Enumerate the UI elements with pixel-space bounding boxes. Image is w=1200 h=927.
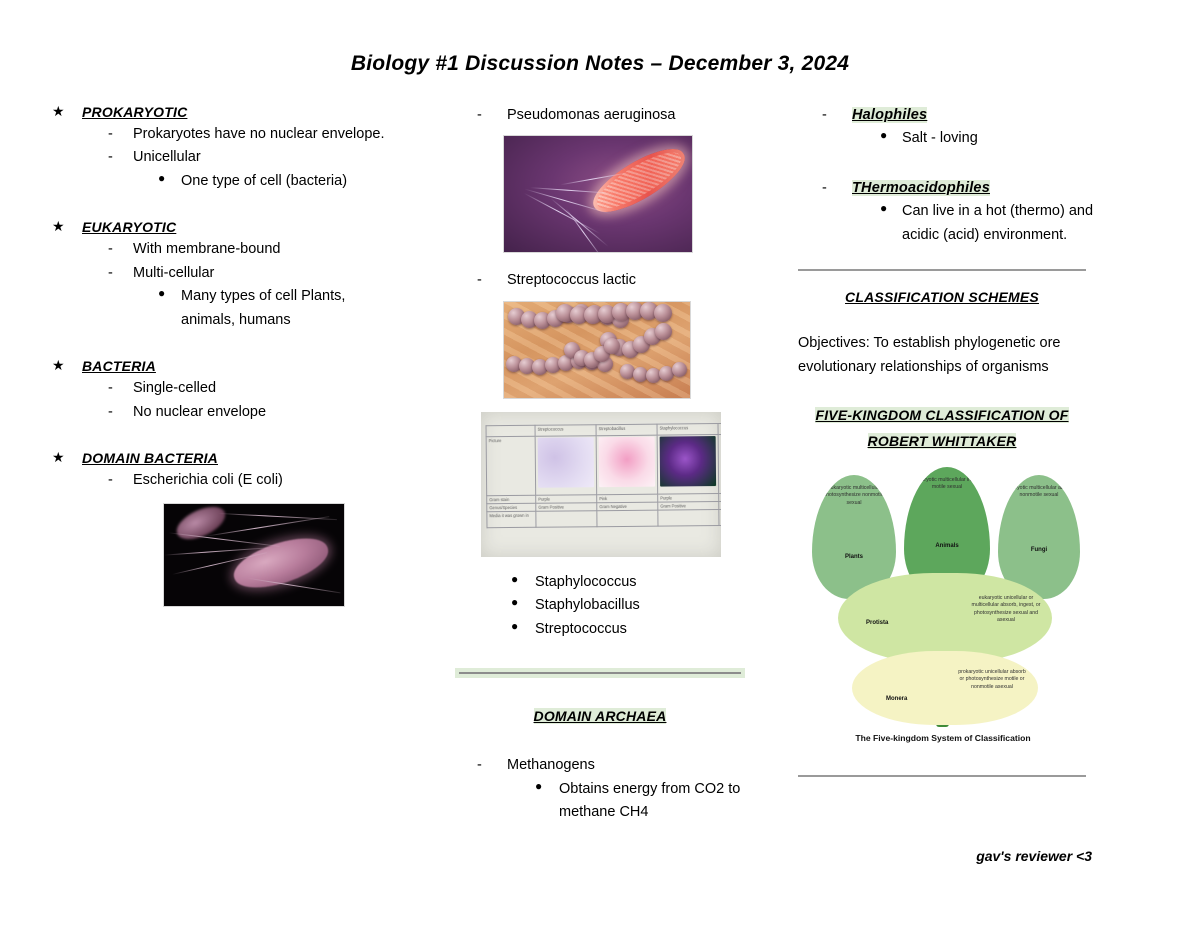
page-footer: gav's reviewer <3 (976, 848, 1092, 864)
section-divider-green (455, 668, 745, 678)
list-item: - Unicellular (48, 146, 388, 169)
five-kingdom-diagram: eukaryotic multicellular photosynthesize… (804, 461, 1098, 761)
section-eukaryotic: ★ EUKARYOTIC (48, 219, 388, 236)
dash-icon: - (822, 177, 827, 200)
list-item-label: Can live in a hot (thermo) and acidic (a… (902, 203, 1093, 242)
kingdom-monera: Monera prokaryotic unicellular absorb or… (852, 651, 1038, 725)
kingdom-traits: eukaryotic multicellular ingest motile s… (904, 467, 990, 492)
list-item: ● Streptococcus (455, 618, 755, 641)
coccus-cell (604, 338, 620, 354)
bullet-icon: ● (158, 169, 165, 188)
dash-icon: - (108, 146, 113, 169)
five-kingdom-heading-line1: FIVE-KINGDOM CLASSIFICATION OF (815, 407, 1068, 423)
spacer (798, 247, 1098, 269)
classification-heading: CLASSIFICATION SCHEMES (845, 289, 1039, 305)
list-item-label: Escherichia coli (E coli) (133, 472, 283, 488)
column-header-cutoff (718, 423, 721, 434)
spacer (798, 271, 1098, 289)
gram-stain-table: Streptococcus Streptobacillus Staphyloco… (486, 423, 721, 529)
ecoli-cell (229, 528, 335, 596)
list-item: - With membrane-bound (48, 238, 388, 261)
bullet-icon: ● (511, 593, 518, 612)
dash-icon: - (477, 269, 482, 292)
micrograph-cell-cutoff (718, 434, 721, 493)
list-item-label: Methanogens (507, 757, 595, 773)
section-heading: PROKARYOTIC (82, 104, 187, 120)
spacer (798, 761, 1098, 775)
row-header: Picture (486, 436, 536, 495)
section-heading: EUKARYOTIC (82, 219, 176, 235)
kingdom-name: Protista (866, 619, 888, 628)
list-item-label: Staphylococcus (535, 574, 637, 590)
star-icon: ★ (52, 449, 65, 467)
bullet-icon: ● (511, 617, 518, 636)
bullet-icon: ● (158, 284, 165, 303)
list-item-label: No nuclear envelope (133, 404, 266, 420)
table-cell (536, 511, 597, 528)
spacer (798, 379, 1098, 403)
kingdom-traits: prokaryotic unicellular absorb or photos… (956, 669, 1028, 692)
list-item: - THermoacidophiles (798, 177, 1098, 200)
dash-icon: - (108, 238, 113, 261)
section-prokaryotic: ★ PROKARYOTIC (48, 104, 388, 121)
list-item-label: Multi-cellular (133, 265, 214, 281)
list-item: ● Can live in a hot (thermo) and acidic … (798, 200, 1098, 247)
micrograph-cell (535, 436, 597, 496)
streptococcus-image (503, 301, 755, 399)
table-corner-cell (486, 425, 535, 436)
star-icon: ★ (52, 218, 65, 236)
spacer (798, 307, 1098, 332)
right-column: - Halophiles ● Salt - loving - THermoaci… (798, 104, 1098, 777)
five-kingdom-heading-wrap: FIVE-KINGDOM CLASSIFICATION OF ROBERT WH… (798, 403, 1086, 454)
table-cell (597, 510, 658, 527)
list-item: - Multi-cellular (48, 262, 388, 285)
list-item-label: Single-celled (133, 380, 216, 396)
column-header: Streptococcus (535, 425, 596, 437)
star-icon: ★ (52, 103, 65, 121)
kingdom-name: Monera (886, 695, 907, 704)
list-item: ● Staphylococcus (455, 571, 755, 594)
list-item-label: Streptococcus lactic (507, 272, 636, 288)
spacer (798, 151, 1098, 177)
list-item-label: Streptococcus (535, 621, 627, 637)
diagram-caption: The Five-kingdom System of Classificatio… (804, 733, 1082, 743)
list-item-label: Staphylobacillus (535, 597, 640, 613)
bullet-icon: ● (535, 777, 542, 796)
list-item: - Escherichia coli (E coli) (48, 469, 388, 492)
spacer (455, 726, 755, 754)
table-row: Media it was grown in (487, 509, 721, 528)
dash-icon: - (108, 401, 113, 424)
spacer (48, 332, 388, 358)
list-item: ● Staphylobacillus (455, 594, 755, 617)
pseudomonas-image (503, 135, 755, 253)
ecoli-image (163, 503, 388, 607)
list-item-label: Obtains energy from CO2 to methane CH4 (559, 781, 740, 820)
dash-icon: - (477, 104, 482, 127)
spacer (455, 557, 755, 571)
kingdom-name: Animals (904, 542, 990, 551)
list-item: ● Many types of cell Plants, animals, hu… (48, 285, 388, 332)
gram-stain-table-image: Streptococcus Streptobacillus Staphyloco… (481, 412, 755, 557)
bullet-icon: ● (880, 126, 887, 145)
coccus-cell (655, 323, 672, 340)
bullet-icon: ● (511, 570, 518, 589)
column-header: Staphylococcus (657, 423, 718, 435)
divider-rule (459, 672, 741, 674)
spacer (48, 424, 388, 450)
section-heading: BACTERIA (82, 358, 156, 374)
list-item-label: Unicellular (133, 149, 201, 165)
coccus-cell (654, 304, 672, 322)
table-row: Picture (486, 434, 721, 496)
table-cell-cutoff (719, 493, 721, 501)
halophiles-label: Halophiles (852, 107, 927, 123)
dash-icon: - (108, 262, 113, 285)
list-item: ● One type of cell (bacteria) (48, 170, 388, 193)
list-item: - Methanogens (455, 754, 755, 777)
coccus-cell (672, 362, 687, 377)
spacer (455, 641, 755, 668)
dash-icon: - (477, 754, 482, 777)
thermoacidophiles-label: THermoacidophiles (852, 180, 990, 196)
list-item: ● Obtains energy from CO2 to methane CH4 (455, 778, 755, 825)
list-item-label: Many types of cell Plants, animals, huma… (181, 288, 345, 327)
kingdom-name: Fungi (998, 546, 1080, 555)
list-item-label: One type of cell (bacteria) (181, 173, 347, 189)
micrograph-cell (596, 435, 658, 495)
list-item: - No nuclear envelope (48, 401, 388, 424)
list-item: - Halophiles (798, 104, 1098, 127)
list-item-label: Pseudomonas aeruginosa (507, 107, 675, 123)
list-item-label: Prokaryotes have no nuclear envelope. (133, 126, 385, 142)
classification-heading-wrap: CLASSIFICATION SCHEMES (798, 289, 1086, 307)
table-cell (658, 509, 719, 526)
dash-icon: - (822, 104, 827, 127)
objectives-text: Objectives: To establish phylogenetic or… (798, 332, 1088, 379)
bottom-divider-rule (798, 775, 1086, 777)
star-icon: ★ (52, 357, 65, 375)
kingdom-protista: Protista eukaryotic unicellular or multi… (838, 573, 1052, 663)
list-item-label: With membrane-bound (133, 241, 281, 257)
page-title: Biology #1 Discussion Notes – December 3… (0, 52, 1200, 76)
list-item: - Single-celled (48, 377, 388, 400)
list-item: - Streptococcus lactic (455, 269, 755, 292)
dash-icon: - (108, 123, 113, 146)
table-cell-cutoff (719, 509, 721, 525)
list-item-label: Salt - loving (902, 130, 978, 146)
row-header: Media it was grown in (487, 511, 536, 527)
dash-icon: - (108, 377, 113, 400)
table-cell-cutoff (719, 501, 721, 509)
kingdom-traits: eukaryotic multicellular absorb nonmotil… (998, 475, 1080, 500)
section-bacteria: ★ BACTERIA (48, 358, 388, 375)
list-item: - Pseudomonas aeruginosa (455, 104, 755, 127)
domain-archaea-heading-wrap: DOMAIN ARCHAEA (455, 708, 745, 726)
spacer (455, 678, 755, 708)
kingdom-traits: eukaryotic unicellular or multicellular … (970, 595, 1042, 625)
kingdom-name: Plants (812, 553, 896, 562)
list-item: ● Salt - loving (798, 127, 1098, 150)
domain-archaea-heading: DOMAIN ARCHAEA (534, 708, 667, 724)
middle-column: - Pseudomonas aeruginosa - Streptococcus… (455, 104, 755, 825)
kingdom-traits: eukaryotic multicellular photosynthesize… (812, 475, 896, 508)
bullet-icon: ● (880, 199, 887, 218)
section-domain-bacteria: ★ DOMAIN BACTERIA (48, 450, 388, 467)
column-header: Streptobacillus (596, 424, 657, 436)
notes-page: Biology #1 Discussion Notes – December 3… (0, 0, 1200, 927)
micrograph-cell (657, 434, 719, 494)
spacer (48, 193, 388, 219)
dash-icon: - (108, 469, 113, 492)
five-kingdom-heading-line2: ROBERT WHITTAKER (868, 433, 1017, 449)
left-column: ★ PROKARYOTIC - Prokaryotes have no nucl… (48, 104, 388, 607)
list-item: - Prokaryotes have no nuclear envelope. (48, 123, 388, 146)
section-heading: DOMAIN BACTERIA (82, 450, 218, 466)
